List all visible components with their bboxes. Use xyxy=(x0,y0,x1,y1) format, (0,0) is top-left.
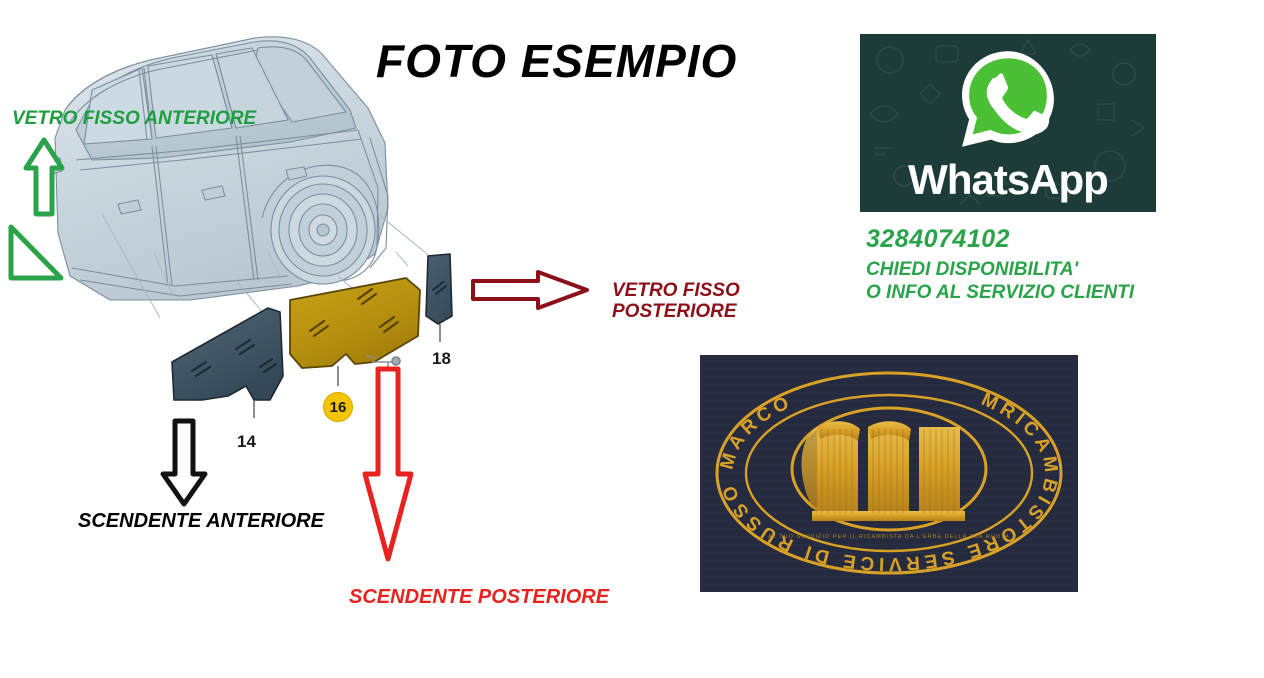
up-arrow-green-icon xyxy=(22,136,66,220)
whatsapp-banner[interactable]: WhatsApp xyxy=(860,34,1156,212)
label-scendente-anteriore: SCENDENTE ANTERIORE xyxy=(78,510,324,532)
contact-block: 3284074102 CHIEDI DISPONIBILITA' O INFO … xyxy=(866,224,1134,304)
whatsapp-icon xyxy=(955,46,1061,152)
label-vetro-fisso-anteriore: VETRO FISSO ANTERIORE xyxy=(12,108,256,129)
label-vetro-fisso-posteriore-line1: VETRO FISSO xyxy=(612,280,740,301)
label-scendente-posteriore: SCENDENTE POSTERIORE xyxy=(349,586,609,608)
contact-phone[interactable]: 3284074102 xyxy=(866,224,1134,255)
part-number-16-badge: 16 xyxy=(323,392,353,422)
shop-logo-banner: MRICAMBISTORE SERVICE DI RUSSO MARCO AL … xyxy=(700,355,1078,592)
triangle-green-icon xyxy=(6,222,66,284)
shop-logo-emblem: MRICAMBISTORE SERVICE DI RUSSO MARCO AL … xyxy=(700,355,1078,592)
shop-logo-tagline: AL TUO SERVIZIO PER IL RICAMBISTA DA L'E… xyxy=(768,534,1010,540)
contact-line-availability: CHIEDI DISPONIBILITA' xyxy=(866,258,1134,281)
down-arrow-red-icon xyxy=(361,366,415,566)
contact-line-service: O INFO AL SERVIZIO CLIENTI xyxy=(866,281,1134,304)
label-vetro-fisso-posteriore: VETRO FISSO POSTERIORE xyxy=(612,280,740,323)
whatsapp-wordmark: WhatsApp xyxy=(860,156,1156,204)
label-vetro-fisso-posteriore-line2: POSTERIORE xyxy=(612,301,740,322)
poster-canvas: 14 17 18 16 FOTO ESEMPIO VETRO FISSO ANT… xyxy=(0,0,1264,678)
part-number-14: 14 xyxy=(237,432,256,452)
page-title: FOTO ESEMPIO xyxy=(376,34,737,88)
right-arrow-maroon-icon xyxy=(470,268,590,312)
part-number-18: 18 xyxy=(432,349,451,369)
down-arrow-black-icon xyxy=(158,418,210,508)
